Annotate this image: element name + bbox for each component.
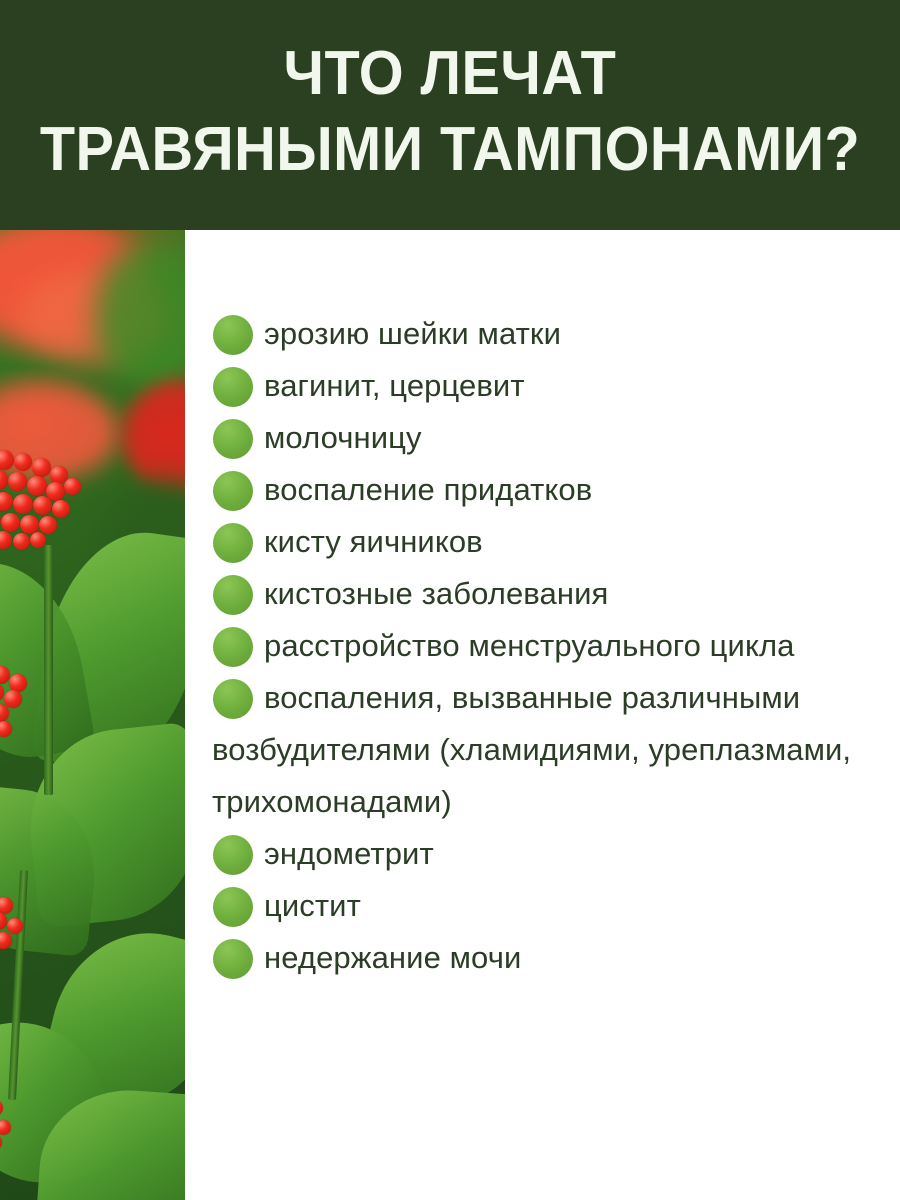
list-item: вагинит, церцевит	[212, 360, 884, 412]
list-item: эндометрит	[212, 828, 884, 880]
list-item: кистозные заболевания	[212, 568, 884, 620]
list-item-label: воспаления, вызванные различными возбуди…	[212, 680, 851, 819]
bullet-icon	[213, 627, 253, 667]
poster-header: ЧТО ЛЕЧАТ ТРАВЯНЫМИ ТАМПОНАМИ?	[0, 0, 900, 230]
bullet-icon	[213, 939, 253, 979]
berry-cluster	[0, 660, 65, 760]
bullet-icon	[213, 887, 253, 927]
list-item: воспаление придатков	[212, 464, 884, 516]
list-item-label: вагинит, церцевит	[264, 368, 525, 403]
bullet-icon	[213, 419, 253, 459]
list-item-label: кисту яичников	[264, 524, 483, 559]
poster: ЧТО ЛЕЧАТ ТРАВЯНЫМИ ТАМПОНАМИ?	[0, 0, 900, 1200]
list-item-label: расстройство менструального цикла	[264, 628, 795, 663]
bullet-icon	[213, 523, 253, 563]
page-title-line-2: ТРАВЯНЫМИ ТАМПОНАМИ?	[40, 119, 860, 181]
plant-photo	[0, 230, 185, 1200]
bullet-icon	[213, 367, 253, 407]
list-item-label: воспаление придатков	[264, 472, 592, 507]
list-item-label: недержание мочи	[264, 940, 521, 975]
bullet-icon	[213, 315, 253, 355]
bullet-icon	[213, 471, 253, 511]
list-item: воспаления, вызванные различными возбуди…	[212, 672, 884, 828]
list-item-label: эрозию шейки матки	[264, 316, 561, 351]
list-item: недержание мочи	[212, 932, 884, 984]
list-item-label: цистит	[264, 888, 361, 923]
list-item: цистит	[212, 880, 884, 932]
list-item: расстройство менструального цикла	[212, 620, 884, 672]
list-item: эрозию шейки матки	[212, 308, 884, 360]
list-item: молочницу	[212, 412, 884, 464]
list-item-label: эндометрит	[264, 836, 434, 871]
berry-cluster	[0, 448, 110, 558]
berry-cluster	[0, 890, 62, 980]
bullet-icon	[213, 679, 253, 719]
treatment-list: эрозию шейки матки вагинит, церцевит мол…	[212, 308, 884, 984]
page-title-line-1: ЧТО ЛЕЧАТ	[284, 43, 617, 105]
list-item-label: кистозные заболевания	[264, 576, 608, 611]
bullet-icon	[213, 575, 253, 615]
berry-cluster	[0, 1100, 50, 1170]
treatment-list-panel: эрозию шейки матки вагинит, церцевит мол…	[185, 230, 900, 1200]
list-item: кисту яичников	[212, 516, 884, 568]
bullet-icon	[213, 835, 253, 875]
list-item-label: молочницу	[264, 420, 422, 455]
